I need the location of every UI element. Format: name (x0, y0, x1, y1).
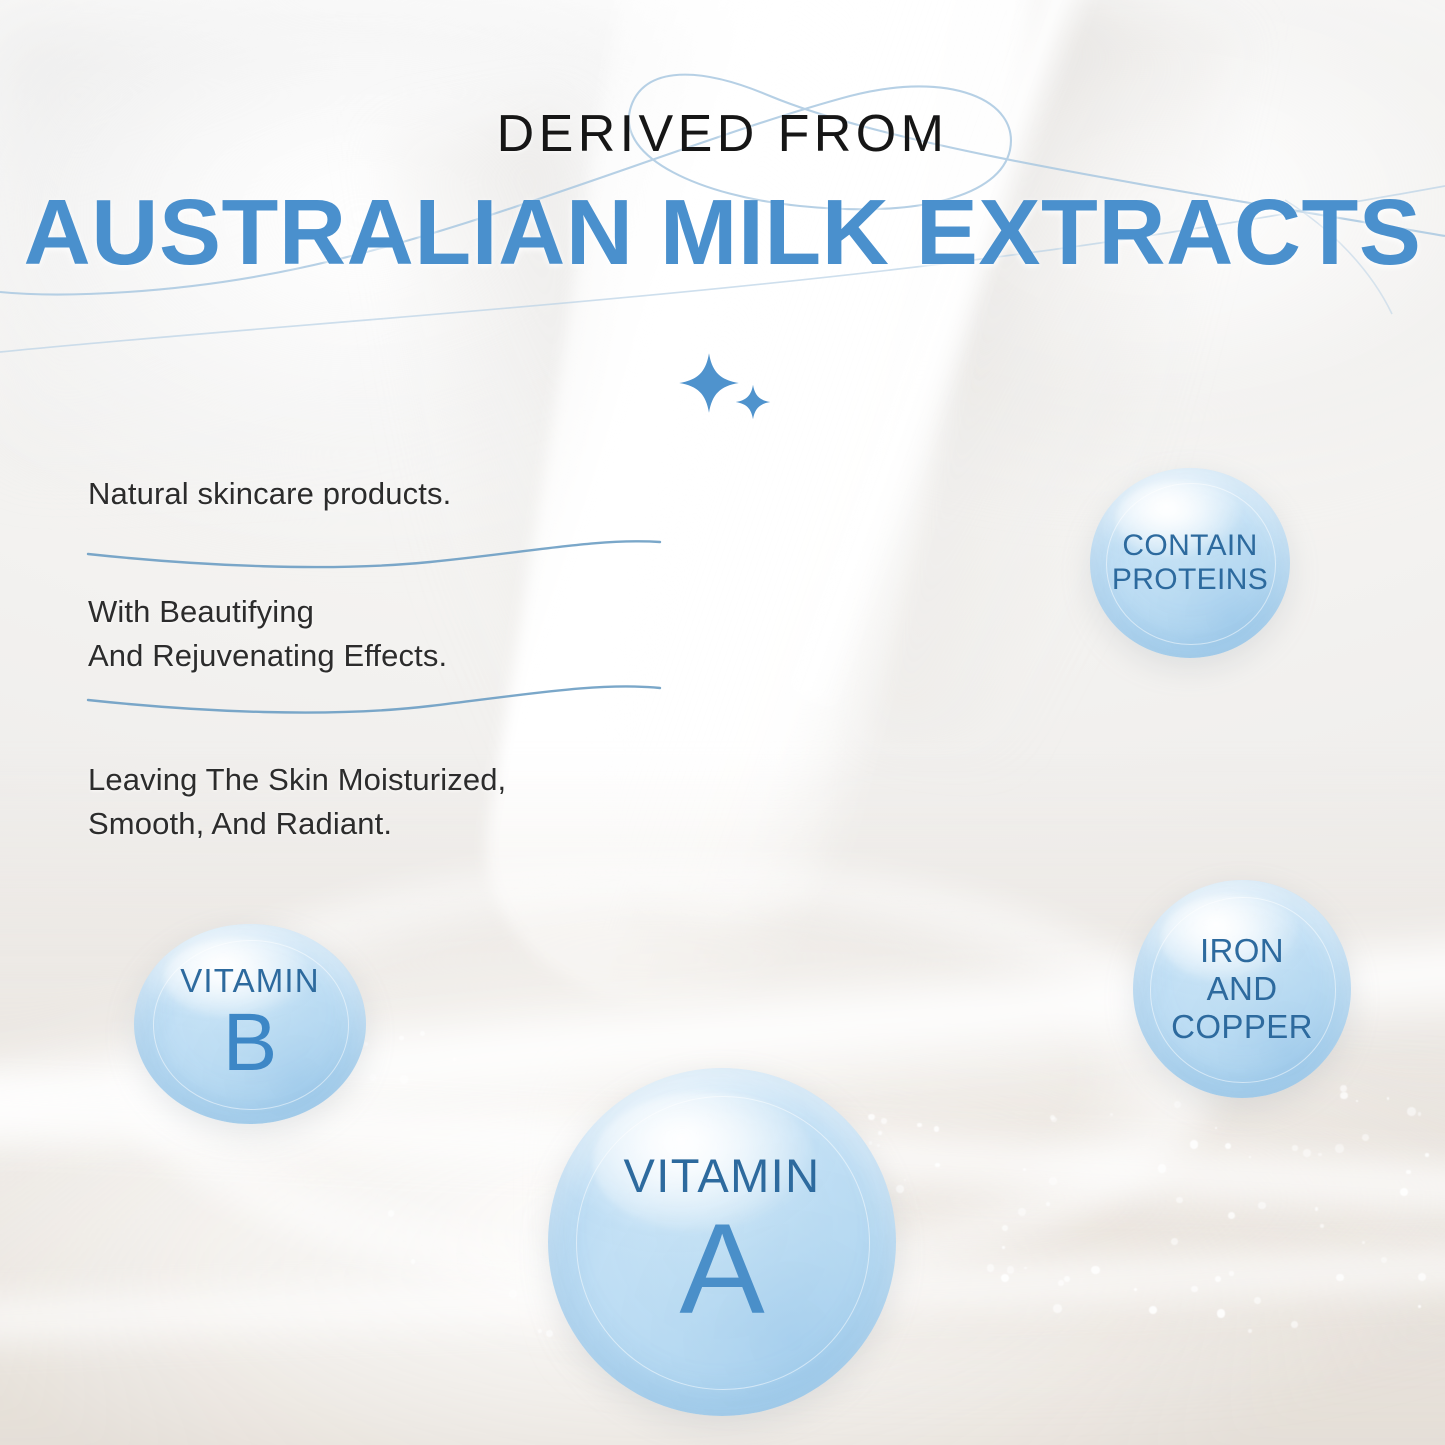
benefit-text-3: Leaving The Skin Moisturized, Smooth, An… (88, 758, 728, 846)
bubble-vitamin-a[interactable]: VITAMIN A (548, 1068, 896, 1416)
page-title: AUSTRALIAN MILK EXTRACTS (0, 186, 1445, 279)
bubble-contain-proteins[interactable]: CONTAIN PROTEINS (1090, 468, 1290, 658)
headline-block: DERIVED FROM AUSTRALIAN MILK EXTRACTS (0, 108, 1445, 279)
benefit-text-1: Natural skincare products. (88, 472, 728, 516)
bubble-iron-and-copper-label: IRON AND COPPER (1171, 932, 1313, 1047)
benefit-text-2: With Beautifying And Rejuvenating Effect… (88, 590, 728, 678)
bubble-vitamin-a-letter: A (624, 1207, 821, 1332)
sparkle-small-icon (735, 384, 771, 420)
infographic-canvas: DERIVED FROM AUSTRALIAN MILK EXTRACTS Na… (0, 0, 1445, 1445)
benefits-copy: Natural skincare products. With Beautify… (88, 472, 728, 846)
bubble-vitamin-b[interactable]: VITAMIN B (134, 924, 366, 1124)
bubble-vitamin-a-label: VITAMIN (624, 1152, 821, 1199)
sparkle-large-icon (678, 352, 740, 414)
bubble-vitamin-b-label: VITAMIN (180, 964, 319, 997)
kicker-text: DERIVED FROM (0, 108, 1445, 160)
bubble-iron-and-copper[interactable]: IRON AND COPPER (1133, 880, 1351, 1098)
bubble-vitamin-b-letter: B (180, 1003, 319, 1083)
bubble-contain-proteins-label: CONTAIN PROTEINS (1112, 529, 1268, 597)
